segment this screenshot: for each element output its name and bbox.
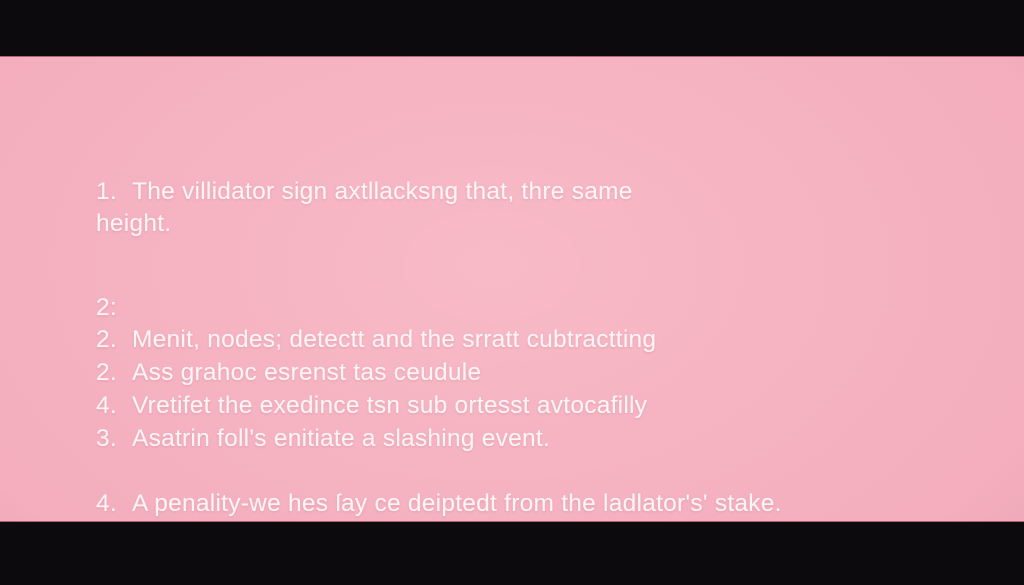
list-item: 3.Asatrin foll's enitiate a slashing eve… — [96, 425, 550, 453]
list-item-continuation: height. — [96, 210, 171, 238]
list-item-text: The villidator sign axtllacksng that, th… — [132, 178, 633, 205]
list-marker: 2. — [96, 359, 132, 387]
list-item: 2.Ass grahoc esrenst tas ceudule — [96, 359, 481, 387]
section-marker: 2: — [96, 294, 117, 322]
list-item: 4.A penality-we hes ſay ce deiptedt from… — [96, 490, 782, 518]
list-marker: 1. — [96, 178, 132, 206]
list-marker: 3. — [96, 425, 132, 453]
letterbox-bar-top — [0, 0, 1024, 56]
letterbox-bar-bottom — [0, 522, 1024, 585]
list-marker: 4. — [96, 490, 132, 518]
list-item-text: Ass grahoc esrenst tas ceudule — [132, 359, 481, 386]
list-item-text: Menit, nodes; detectt and the srratt cub… — [132, 326, 656, 353]
list-item-text: Vretifet the exedince tsn sub ortesst av… — [132, 392, 647, 419]
list-marker: 2. — [96, 326, 132, 354]
list-item: 1.The villidator sign axtllacksng that, … — [96, 178, 633, 206]
list-item-text: A penality-we hes ſay ce deiptedt from t… — [132, 490, 782, 517]
list-item: 4.Vretifet the exedince tsn sub ortesst … — [96, 392, 647, 420]
slide-text-body: 1.The villidator sign axtllacksng that, … — [0, 56, 1024, 522]
list-item-text: Asatrin foll's enitiate a slashing event… — [132, 425, 550, 452]
list-item: 2.Menit, nodes; detectt and the srratt c… — [96, 326, 656, 354]
list-marker: 4. — [96, 392, 132, 420]
section-marker-label: 2: — [96, 294, 117, 322]
list-item-continuation-text: height. — [96, 210, 171, 237]
presentation-slide-frame: 1.The villidator sign axtllacksng that, … — [0, 0, 1024, 585]
